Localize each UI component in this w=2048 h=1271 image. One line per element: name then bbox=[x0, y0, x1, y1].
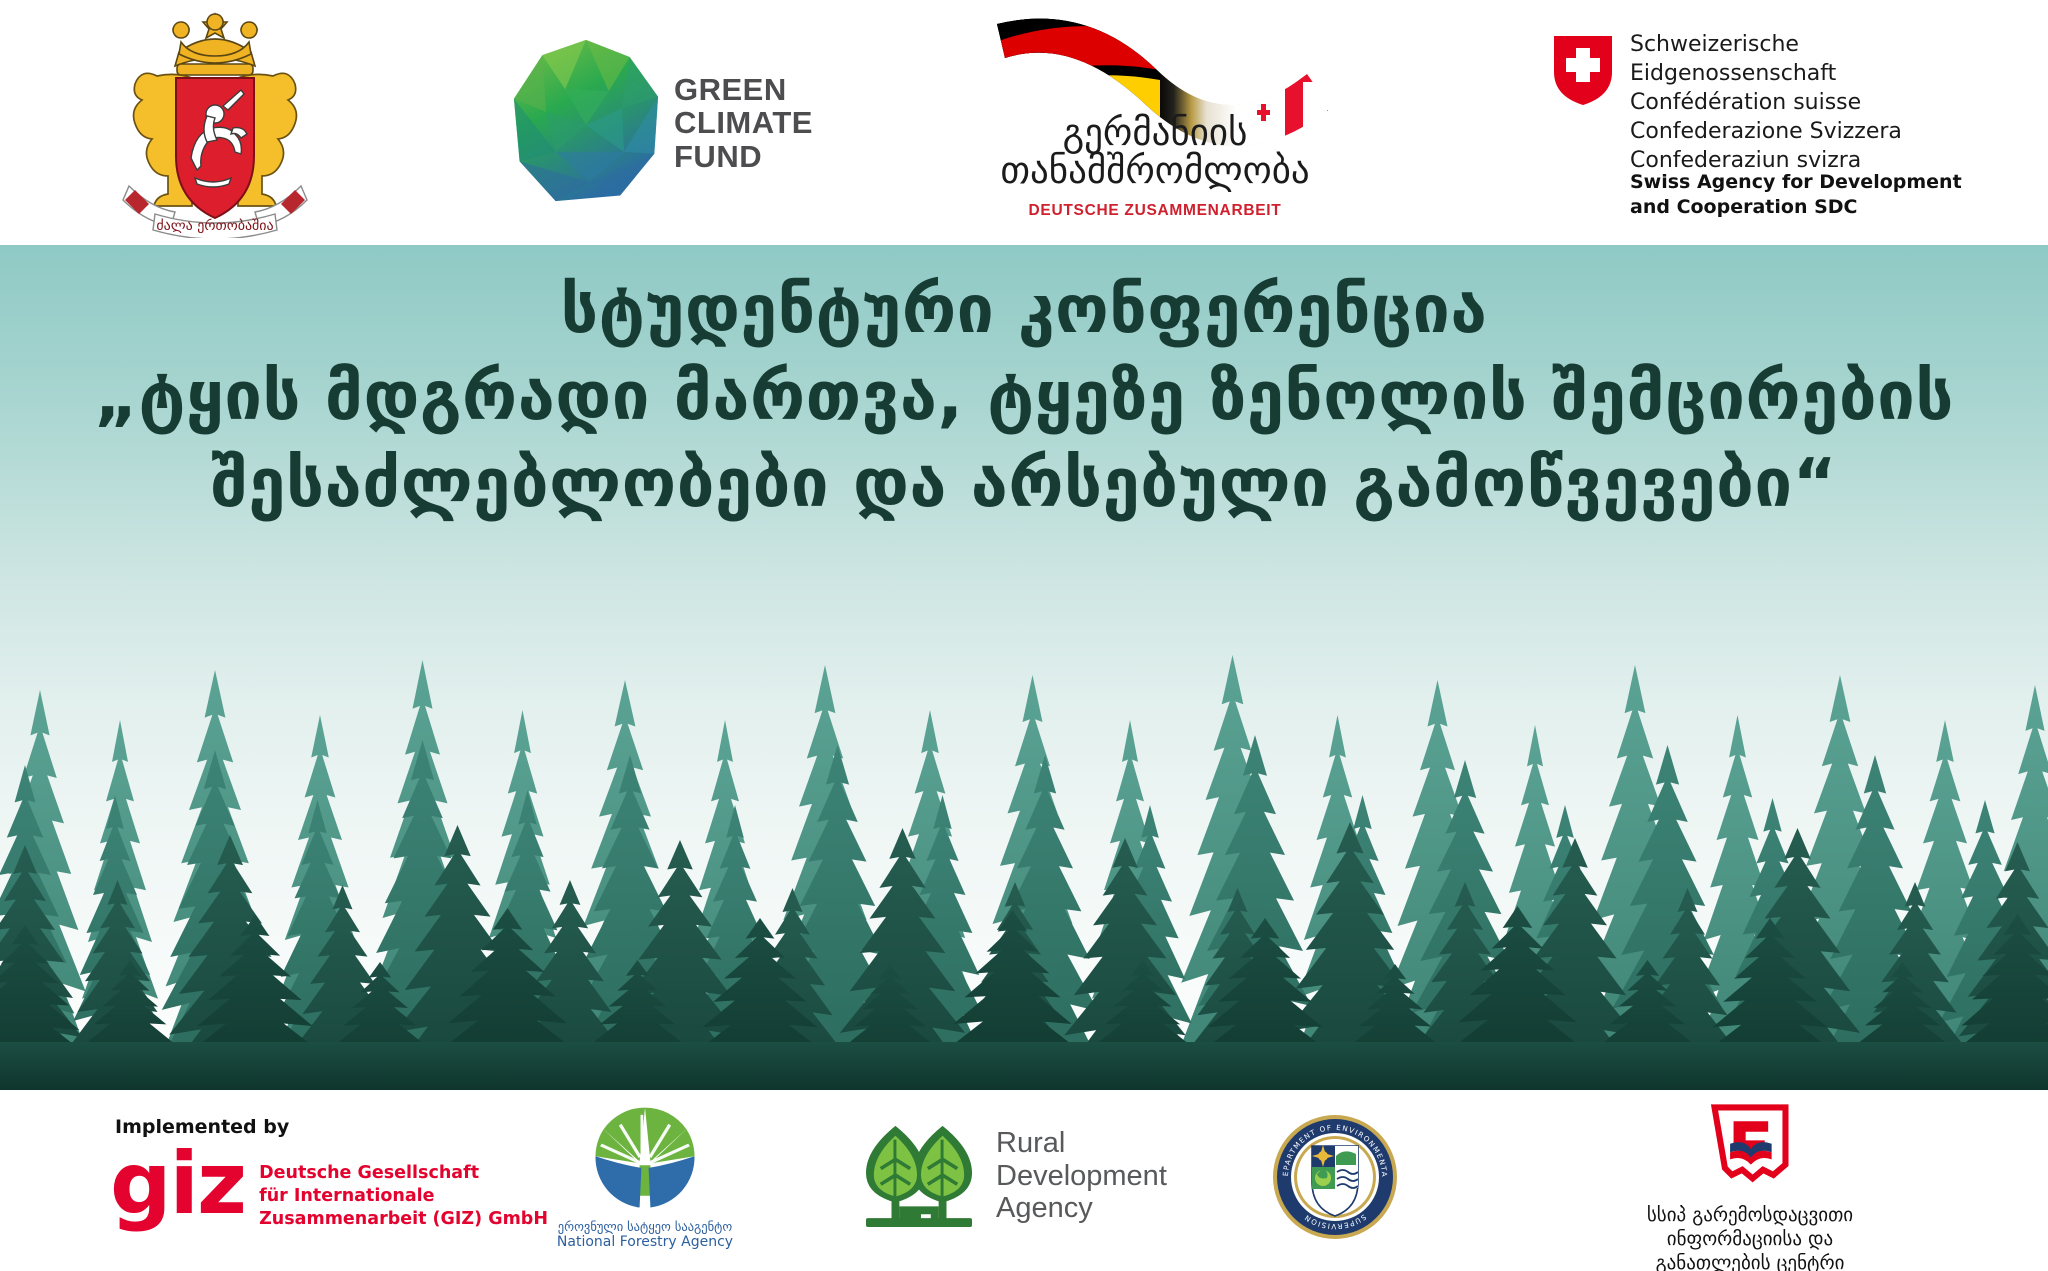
gcf-line-1: GREEN bbox=[674, 73, 813, 106]
rda-line-1: Rural bbox=[996, 1127, 1167, 1159]
two-leaf-house-icon bbox=[860, 1120, 978, 1232]
giz-wordmark: giz bbox=[110, 1148, 245, 1222]
conference-poster: ძალა ერთობაშია bbox=[0, 0, 2048, 1271]
eiec-line-2: ინფორმაციისა და bbox=[1600, 1228, 1900, 1252]
gcf-line-2: CLIMATE bbox=[674, 106, 813, 139]
giz-line-2: für Internationale bbox=[259, 1185, 548, 1208]
swiss-line-1: Schweizerische Eidgenossenschaft bbox=[1630, 30, 1992, 88]
rda-line-2: Development bbox=[996, 1160, 1167, 1192]
georgia-coat-of-arms-icon: ძალა ერთობაშია bbox=[95, 8, 335, 238]
nfa-english-label: National Forestry Agency bbox=[545, 1234, 745, 1250]
title-line-2: „ტყის მდგრადი მართვა, ტყეზე ზენოლის შემც… bbox=[0, 353, 2048, 440]
swiss-agency-line-1: Swiss Agency for Development bbox=[1630, 170, 1962, 195]
national-forestry-agency-logo: ეროვნული სატყეო სააგენტო National Forest… bbox=[545, 1104, 745, 1250]
giz-line-3: Zusammenarbeit (GIZ) GmbH bbox=[259, 1208, 548, 1231]
eiec-line-3: განათლების ცენტრი bbox=[1600, 1252, 1900, 1271]
german-coop-subtitle: DEUTSCHE ZUSAMMENARBEIT bbox=[995, 202, 1315, 220]
eiec-line-1: სსიპ გარემოსდაცვითი bbox=[1600, 1204, 1900, 1228]
rural-development-agency-logo: Rural Development Agency bbox=[860, 1120, 1167, 1232]
bottom-logo-bar: Implemented by giz Deutsche Gesellschaft… bbox=[0, 1090, 2048, 1271]
german-cooperation-logo: გერმანიის თანამშრომლობა DEUTSCHE ZUSAMME… bbox=[985, 6, 1385, 236]
environmental-info-education-centre-logo: სსიპ გარემოსდაცვითი ინფორმაციისა და განა… bbox=[1600, 1104, 1900, 1271]
swiss-confederation-logo: Schweizerische Eidgenossenschaft Confédé… bbox=[1552, 30, 1992, 220]
rda-line-3: Agency bbox=[996, 1192, 1167, 1224]
title-line-1: სტუდენტური კონფერენცია bbox=[0, 267, 2048, 353]
swiss-agency-line-2: and Cooperation SDC bbox=[1630, 195, 1962, 220]
svg-text:ძალა ერთობაშია: ძალა ერთობაშია bbox=[156, 217, 273, 234]
giz-logo: giz Deutsche Gesellschaft für Internatio… bbox=[110, 1148, 548, 1231]
eiec-shield-icon bbox=[1711, 1179, 1789, 1198]
main-banner: სტუდენტური კონფერენცია „ტყის მდგრადი მარ… bbox=[0, 245, 2048, 1090]
forest-silhouette bbox=[0, 570, 2048, 1090]
title-line-3: შესაძლებლობები და არსებული გამოწვევები“ bbox=[0, 440, 2048, 527]
gcf-line-3: FUND bbox=[674, 140, 813, 173]
gcf-polyhedron-icon bbox=[510, 38, 662, 208]
tree-circle-icon bbox=[591, 1197, 699, 1216]
top-logo-bar: ძალა ერთობაშია bbox=[0, 0, 2048, 245]
page-title: სტუდენტური კონფერენცია „ტყის მდგრადი მარ… bbox=[0, 267, 2048, 527]
green-climate-fund-logo: GREEN CLIMATE FUND bbox=[510, 28, 850, 218]
environmental-supervision-seal-icon: DEPARTMENT OF ENVIRONMENTAL SUPERVISION bbox=[1270, 1112, 1400, 1242]
giz-line-1: Deutsche Gesellschaft bbox=[259, 1162, 548, 1185]
swiss-shield-icon bbox=[1552, 34, 1614, 106]
german-coop-georgian-line-1: გერმანიის bbox=[995, 114, 1315, 152]
german-coop-georgian-line-2: თანამშრომლობა bbox=[995, 152, 1315, 190]
nfa-georgian-label: ეროვნული სატყეო სააგენტო bbox=[545, 1219, 745, 1234]
swiss-line-2: Confédération suisse bbox=[1630, 88, 1992, 117]
swiss-line-3: Confederazione Svizzera bbox=[1630, 117, 1992, 146]
